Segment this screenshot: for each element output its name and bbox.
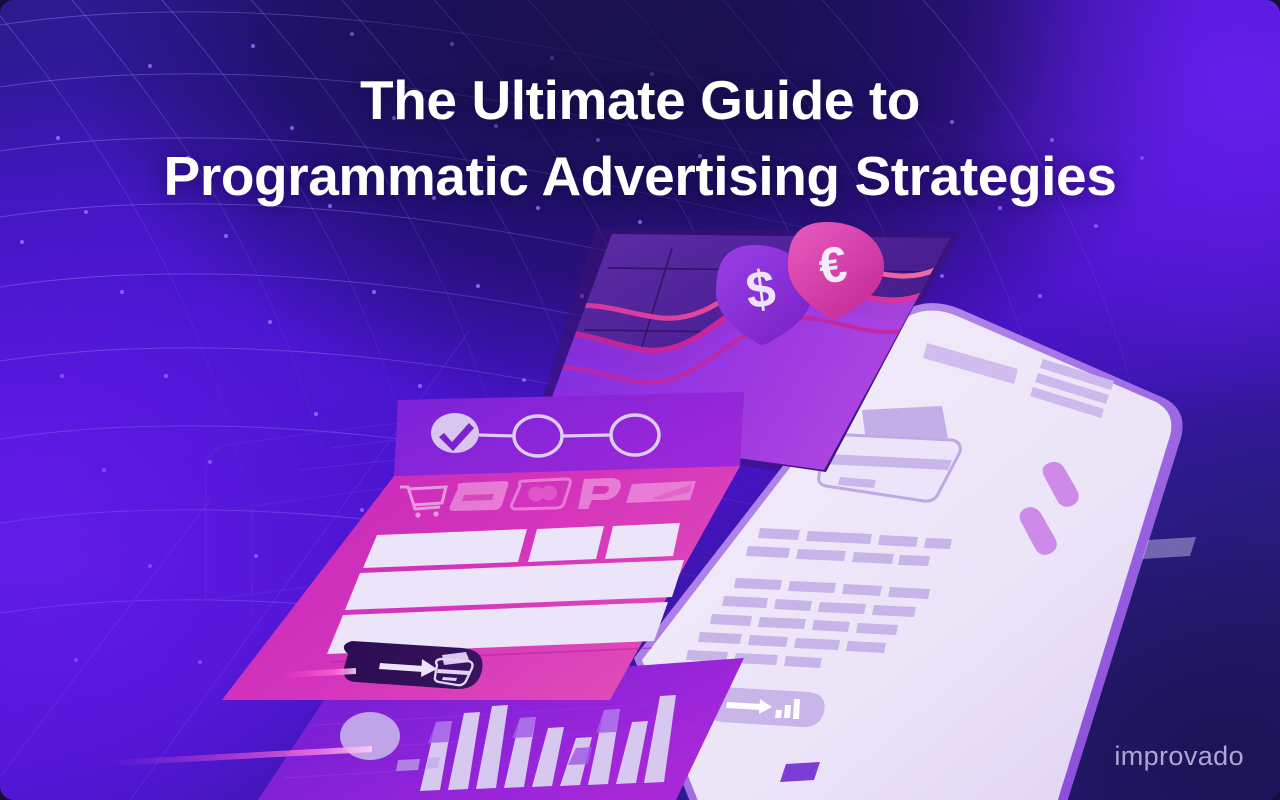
hero-banner: $ € xyxy=(0,0,1280,800)
step-connector-2 xyxy=(562,435,611,436)
checkout-form-fields xyxy=(327,523,684,654)
step-connector-1 xyxy=(479,435,514,436)
improvado-logo: improvado xyxy=(1114,741,1244,772)
hero-illustration: $ € xyxy=(0,0,1280,800)
field-row1-a xyxy=(363,529,527,568)
field-row1-c xyxy=(605,523,680,559)
field-row1-b xyxy=(528,526,604,562)
growth-badge xyxy=(712,687,825,727)
credit-card-icon xyxy=(450,481,509,511)
card-swipe-icon xyxy=(626,481,696,503)
